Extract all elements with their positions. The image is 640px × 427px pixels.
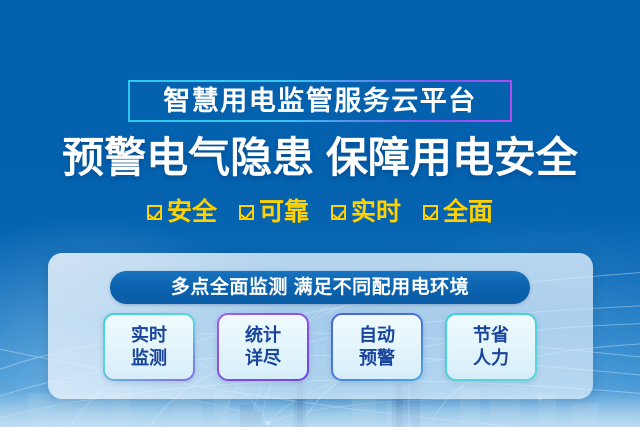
feature-label: 安全 [167,200,217,225]
feature-item-safety: 安全 [147,200,217,225]
benefit-card-line1: 节省 [473,324,509,347]
benefit-card-line2: 预警 [359,347,395,370]
subtitle-pill-text: 多点全面监测 满足不同配用电环境 [171,278,469,297]
subtitle-pill-banner: 多点全面监测 满足不同配用电环境 [110,271,530,304]
benefit-card-auto-alarm[interactable]: 自动 预警 [331,313,423,381]
benefit-card-line1: 实时 [131,324,167,347]
benefit-card-realtime-monitoring[interactable]: 实时 监测 [103,313,195,381]
checkbox-checked-icon [423,205,438,220]
feature-item-reliable: 可靠 [239,200,309,225]
benefit-card-detailed-statistics[interactable]: 统计 详尽 [217,313,309,381]
benefit-card-line2: 详尽 [245,347,281,370]
checkbox-checked-icon [239,205,254,220]
main-headline: 预警电气隐患 保障用电安全 [0,136,640,180]
benefit-card-save-manpower[interactable]: 节省 人力 [445,313,537,381]
feature-label: 实时 [351,200,401,225]
benefit-card-line2: 人力 [473,347,509,370]
benefit-card-line2: 监测 [131,347,167,370]
checkbox-checked-icon [147,205,162,220]
checkbox-checked-icon [331,205,346,220]
benefit-card-line1: 自动 [359,324,395,347]
promo-poster: 智慧用电监管服务云平台 预警电气隐患 保障用电安全 安全 可靠 实时 全面 多点… [0,0,640,427]
feature-label: 可靠 [259,200,309,225]
feature-item-comprehensive: 全面 [423,200,493,225]
feature-check-row: 安全 可靠 实时 全面 [0,200,640,225]
platform-title-text: 智慧用电监管服务云平台 [163,88,477,115]
feature-label: 全面 [443,200,493,225]
benefit-card-row: 实时 监测 统计 详尽 自动 预警 节省 人力 [103,313,537,381]
platform-title-box: 智慧用电监管服务云平台 [128,80,512,122]
benefit-card-line1: 统计 [245,324,281,347]
feature-item-realtime: 实时 [331,200,401,225]
